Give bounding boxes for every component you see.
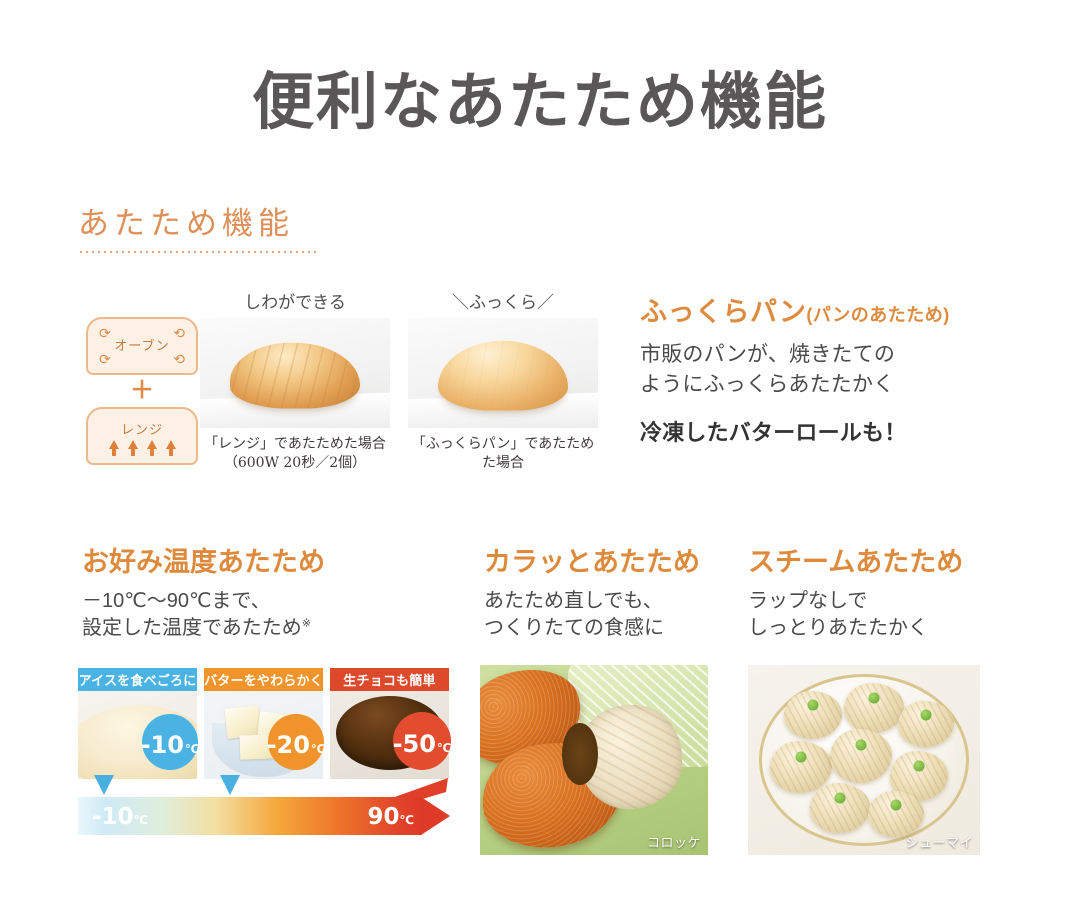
feature-column-steam: スチームあたため ラップなしで しっとりあたたかく [748, 548, 998, 642]
croquette-photo-caption: コロッケ [647, 832, 701, 851]
temperature-badge-unit: ℃ [185, 743, 200, 755]
bread-comparison-block: ⟳ ⟲ ⟳ ⟲ オーブン ＋ レンジ しわができる 「レンジ」であたためた場合 [78, 295, 638, 495]
section-heading-block: あたため機能 [78, 205, 328, 253]
microwave-up-arrows-icon [109, 440, 176, 449]
page-root: 便利なあたため機能 あたため機能 ⟳ ⟲ ⟳ ⟲ オーブン ＋ レンジ しわがで [0, 0, 1080, 908]
temperature-card-ice: アイスを食べごろに -10℃ [78, 668, 197, 779]
oven-arrow-top-right-icon: ⟲ [173, 326, 185, 340]
feature-column-okonomi: お好み温度あたため －10℃～90℃まで、 設定した温度であたため※ [82, 548, 462, 642]
feature-body-line1: あたため直しでも、 [484, 590, 663, 612]
butter-cube-shape [225, 705, 262, 738]
fukkura-pan-body: 市販のパンが、焼きたての ようにふっくらあたたかく [640, 340, 1040, 401]
temperature-badge-unit: ℃ [437, 742, 452, 754]
bread-roll-shape [438, 341, 568, 411]
section-heading: あたため機能 [78, 205, 328, 244]
temperature-bar-min-value: -10 [92, 804, 134, 830]
fukkura-pan-title: ふっくらパン(パンのあたため) [640, 298, 1040, 328]
temperature-gradient-bar: -10℃ 90℃ [78, 797, 450, 835]
temperature-bar-min-label: -10℃ [92, 804, 148, 830]
temperature-card-butter: バターをやわらかく -20℃ [204, 668, 323, 779]
temperature-pointer-butter-icon [220, 775, 240, 795]
temperature-card-chocolate: 生チョコも簡単 -50℃ [330, 668, 449, 779]
plus-sign-icon: ＋ [86, 379, 198, 403]
shumai-photo-caption: シューマイ [905, 832, 973, 851]
bread-caption: 「レンジ」であたためた場合 （600W 20秒／2個） [200, 435, 390, 473]
temperature-banner-butter: バターをやわらかく [204, 668, 323, 691]
microwave-mode-icon: レンジ [86, 407, 198, 465]
temperature-bar-max-value: 90 [367, 804, 399, 830]
footnote-mark: ※ [302, 617, 311, 629]
feature-body-line1: ラップなしで [748, 590, 867, 612]
feature-body-karatto: あたため直しでも、 つくりたての食感に [484, 588, 724, 642]
bread-top-label: ＼ふっくら／ [408, 295, 598, 312]
page-title: 便利なあたため機能 [0, 72, 1080, 134]
feature-body-line2: つくりたての食感に [484, 617, 664, 639]
feature-column-karatto: カラッとあたため あたため直しでも、 つくりたての食感に [484, 548, 724, 642]
temperature-badge-value: -10 [141, 733, 184, 757]
oven-arrow-bottom-left-icon: ⟳ [99, 352, 111, 366]
feature-body-okonomi: －10℃～90℃まで、 設定した温度であたため※ [82, 588, 462, 642]
bread-caption-line1: 「ふっくらパン」であたためた場合 [412, 436, 595, 471]
temperature-banner-ice: アイスを食べごろに [78, 668, 197, 691]
temperature-bar-max-unit: ℃ [399, 813, 414, 827]
fukkura-pan-title-sub: (パンのあたため) [806, 305, 949, 325]
feature-body-line2: 設定した温度であたため [82, 617, 302, 639]
bread-caption: 「ふっくらパン」であたためた場合 [408, 435, 598, 473]
bread-roll-shape [230, 343, 360, 409]
oven-arrow-bottom-right-icon: ⟲ [173, 352, 185, 366]
shumai-photo: シューマイ [748, 665, 980, 855]
feature-title-steam: スチームあたため [748, 548, 998, 578]
fluffy-bread-photo [408, 318, 598, 428]
bread-top-label: しわができる [200, 295, 390, 312]
bread-comparison-item-fukkura: ＼ふっくら／ 「ふっくらパン」であたためた場合 [408, 295, 598, 473]
fukkura-pan-body-line1: 市販のパンが、焼きたての [640, 343, 895, 366]
bread-comparison-item-microwave: しわができる 「レンジ」であたためた場合 （600W 20秒／2個） [200, 295, 390, 473]
feature-body-line2: しっとりあたたかく [748, 617, 928, 639]
temperature-graphic: アイスを食べごろに -10℃ バターをやわらかく -20℃ [78, 668, 450, 835]
temperature-banner-chocolate: 生チョコも簡単 [330, 668, 449, 691]
bread-caption-line1: 「レンジ」であたためた場合 [204, 436, 386, 452]
feature-body-line1: －10℃～90℃まで、 [82, 590, 271, 612]
croquette-filling-shape [578, 705, 682, 809]
microwave-mode-label: レンジ [121, 424, 163, 437]
feature-body-steam: ラップなしで しっとりあたたかく [748, 588, 998, 642]
oven-mode-label: オーブン [114, 340, 169, 353]
oven-mode-icon: ⟳ ⟲ ⟳ ⟲ オーブン [86, 317, 198, 375]
wrinkled-bread-photo [200, 318, 390, 428]
section-heading-divider [78, 251, 320, 253]
bread-caption-line2: （600W 20秒／2個） [224, 455, 366, 471]
heating-mode-icons: ⟳ ⟲ ⟳ ⟲ オーブン ＋ レンジ [86, 317, 206, 465]
temperature-pointer-ice-icon [94, 775, 114, 795]
temperature-badge-unit: ℃ [311, 743, 326, 755]
temperature-badge-ice: -10℃ [142, 714, 198, 770]
feature-title-okonomi: お好み温度あたため [82, 548, 462, 578]
fukkura-pan-text-block: ふっくらパン(パンのあたため) 市販のパンが、焼きたての ようにふっくらあたたか… [640, 298, 1040, 447]
oven-arrow-top-left-icon: ⟳ [99, 326, 111, 340]
temperature-badge-value: -50 [393, 732, 436, 756]
temperature-badge-value: -20 [267, 733, 310, 757]
fukkura-pan-highlight: 冷凍したバターロールも！ [640, 415, 1040, 447]
temperature-bar-min-unit: ℃ [134, 813, 149, 827]
croquette-photo: コロッケ [480, 665, 708, 855]
temperature-card-row: アイスを食べごろに -10℃ バターをやわらかく -20℃ [78, 668, 450, 779]
temperature-badge-chocolate: -50℃ [393, 712, 451, 770]
temperature-badge-butter: -20℃ [268, 714, 324, 770]
fukkura-pan-title-main: ふっくらパン [640, 297, 806, 327]
temperature-bar-arrowhead-icon [421, 797, 450, 835]
temperature-bar-max-label: 90℃ [367, 804, 414, 830]
feature-title-karatto: カラッとあたため [484, 548, 724, 578]
fukkura-pan-body-line2: ようにふっくらあたたかく [640, 373, 894, 396]
